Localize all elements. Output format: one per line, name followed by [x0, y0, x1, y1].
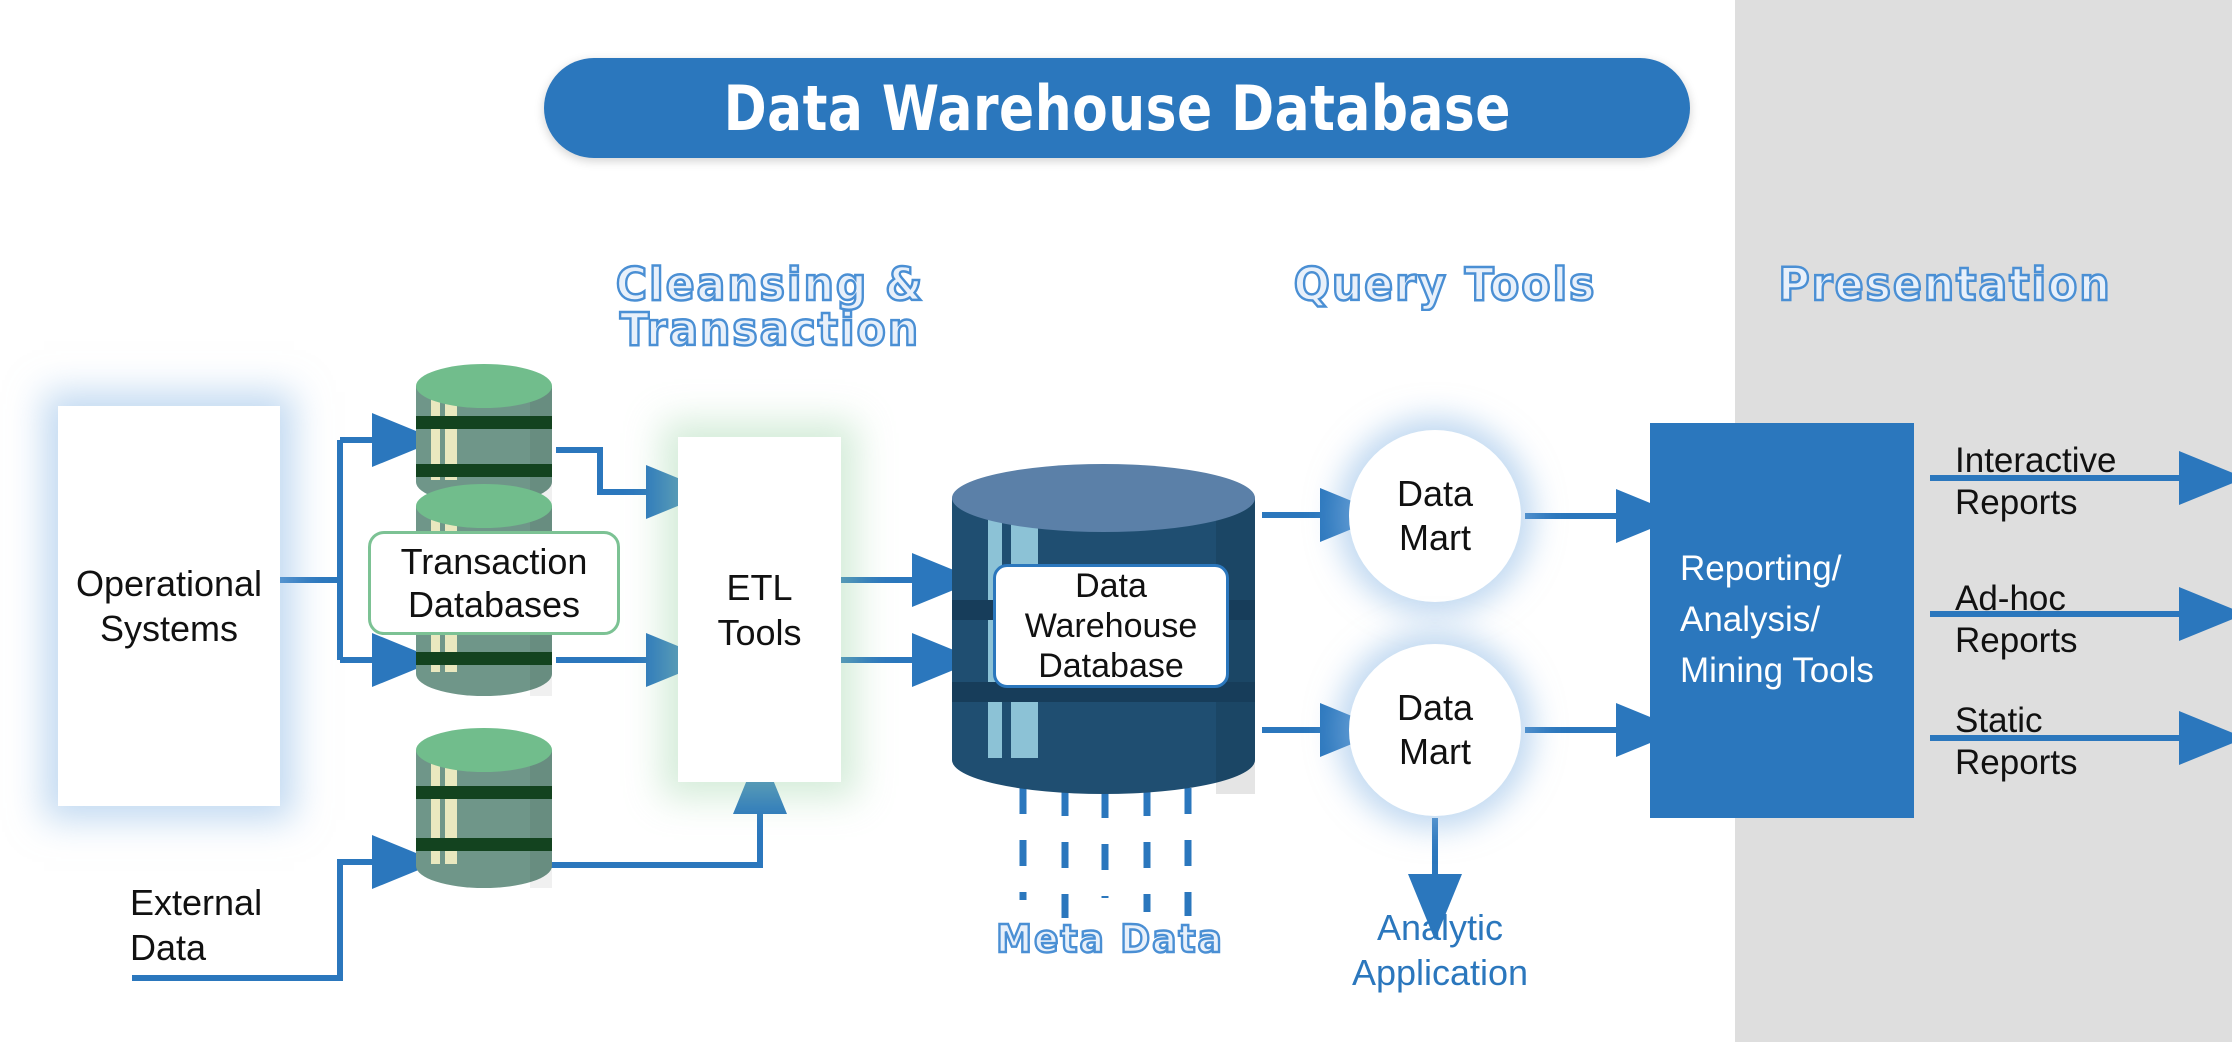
analytic-application-line1: Analytic: [1330, 905, 1550, 950]
output-interactive-reports-line1: Interactive: [1955, 440, 2116, 482]
output-interactive-reports[interactable]: Interactive Reports: [1955, 440, 2116, 524]
data-mart-2-line2: Mart: [1397, 730, 1473, 774]
cylinder-band-2: [416, 464, 552, 477]
section-header-cleansing-line2: Transaction: [571, 307, 970, 352]
external-data-line1: External: [130, 880, 360, 925]
warehouse-top: [952, 464, 1255, 532]
node-data-mart-1[interactable]: Data Mart: [1349, 430, 1521, 602]
cylinder-top: [416, 728, 552, 772]
section-header-query-tools: Query Tools: [1265, 262, 1626, 307]
data-mart-1-line2: Mart: [1397, 516, 1473, 560]
meta-data-label: Meta Data: [939, 920, 1281, 958]
warehouse-line3: Database: [1025, 646, 1198, 686]
node-operational-systems[interactable]: Operational Systems: [58, 406, 280, 806]
output-static-reports-line2: Reports: [1955, 742, 2078, 784]
node-etl-tools[interactable]: ETL Tools: [678, 437, 841, 782]
cylinder-band-1: [416, 652, 552, 665]
cylinder-band-1: [416, 786, 552, 799]
output-static-reports-line1: Static: [1955, 700, 2078, 742]
diagram-canvas: Data Warehouse Database Cleansing & Tran…: [0, 0, 2232, 1042]
warehouse-line2: Warehouse: [1025, 606, 1198, 646]
node-reporting-analysis-mining-tools[interactable]: Reporting/ Analysis/ Mining Tools: [1650, 423, 1914, 818]
cylinder-shade: [530, 750, 552, 888]
cylinder-top: [416, 484, 552, 528]
output-ad-hoc-reports-line2: Reports: [1955, 620, 2078, 662]
page-title-banner: Data Warehouse Database: [544, 58, 1690, 158]
reporting-line3: Mining Tools: [1680, 646, 1874, 697]
transaction-database-cylinder-1[interactable]: [416, 364, 552, 504]
transaction-database-cylinder-3[interactable]: [416, 728, 552, 888]
output-ad-hoc-reports-line1: Ad-hoc: [1955, 578, 2078, 620]
cylinder-top: [416, 364, 552, 408]
transaction-databases-line1: Transaction: [401, 540, 588, 583]
analytic-application-line2: Application: [1330, 950, 1550, 995]
external-data-line2: Data: [130, 925, 360, 970]
output-ad-hoc-reports[interactable]: Ad-hoc Reports: [1955, 578, 2078, 662]
etl-tools-line1: ETL: [717, 565, 801, 610]
node-transaction-databases[interactable]: Transaction Databases: [368, 531, 620, 635]
operational-systems-line2: Systems: [76, 606, 262, 651]
data-mart-2-line1: Data: [1397, 686, 1473, 730]
output-static-reports[interactable]: Static Reports: [1955, 700, 2078, 784]
page-title: Data Warehouse Database: [723, 72, 1510, 145]
reporting-line1: Reporting/: [1680, 544, 1874, 595]
reporting-line2: Analysis/: [1680, 595, 1874, 646]
warehouse-line1: Data: [1025, 566, 1198, 606]
operational-systems-line1: Operational: [76, 561, 262, 606]
node-external-data[interactable]: External Data: [130, 880, 360, 970]
cylinder-band-1: [416, 416, 552, 429]
data-mart-1-line1: Data: [1397, 472, 1473, 516]
data-warehouse-database-label[interactable]: Data Warehouse Database: [993, 564, 1229, 688]
cylinder-band-2: [416, 838, 552, 851]
etl-tools-line2: Tools: [717, 610, 801, 655]
transaction-databases-line2: Databases: [401, 583, 588, 626]
section-header-presentation: Presentation: [1755, 262, 2135, 307]
section-header-cleansing-line1: Cleansing &: [571, 262, 970, 307]
section-header-cleansing: Cleansing & Transaction: [571, 262, 970, 352]
node-analytic-application[interactable]: Analytic Application: [1330, 905, 1550, 995]
node-data-mart-2[interactable]: Data Mart: [1349, 644, 1521, 816]
output-interactive-reports-line2: Reports: [1955, 482, 2116, 524]
